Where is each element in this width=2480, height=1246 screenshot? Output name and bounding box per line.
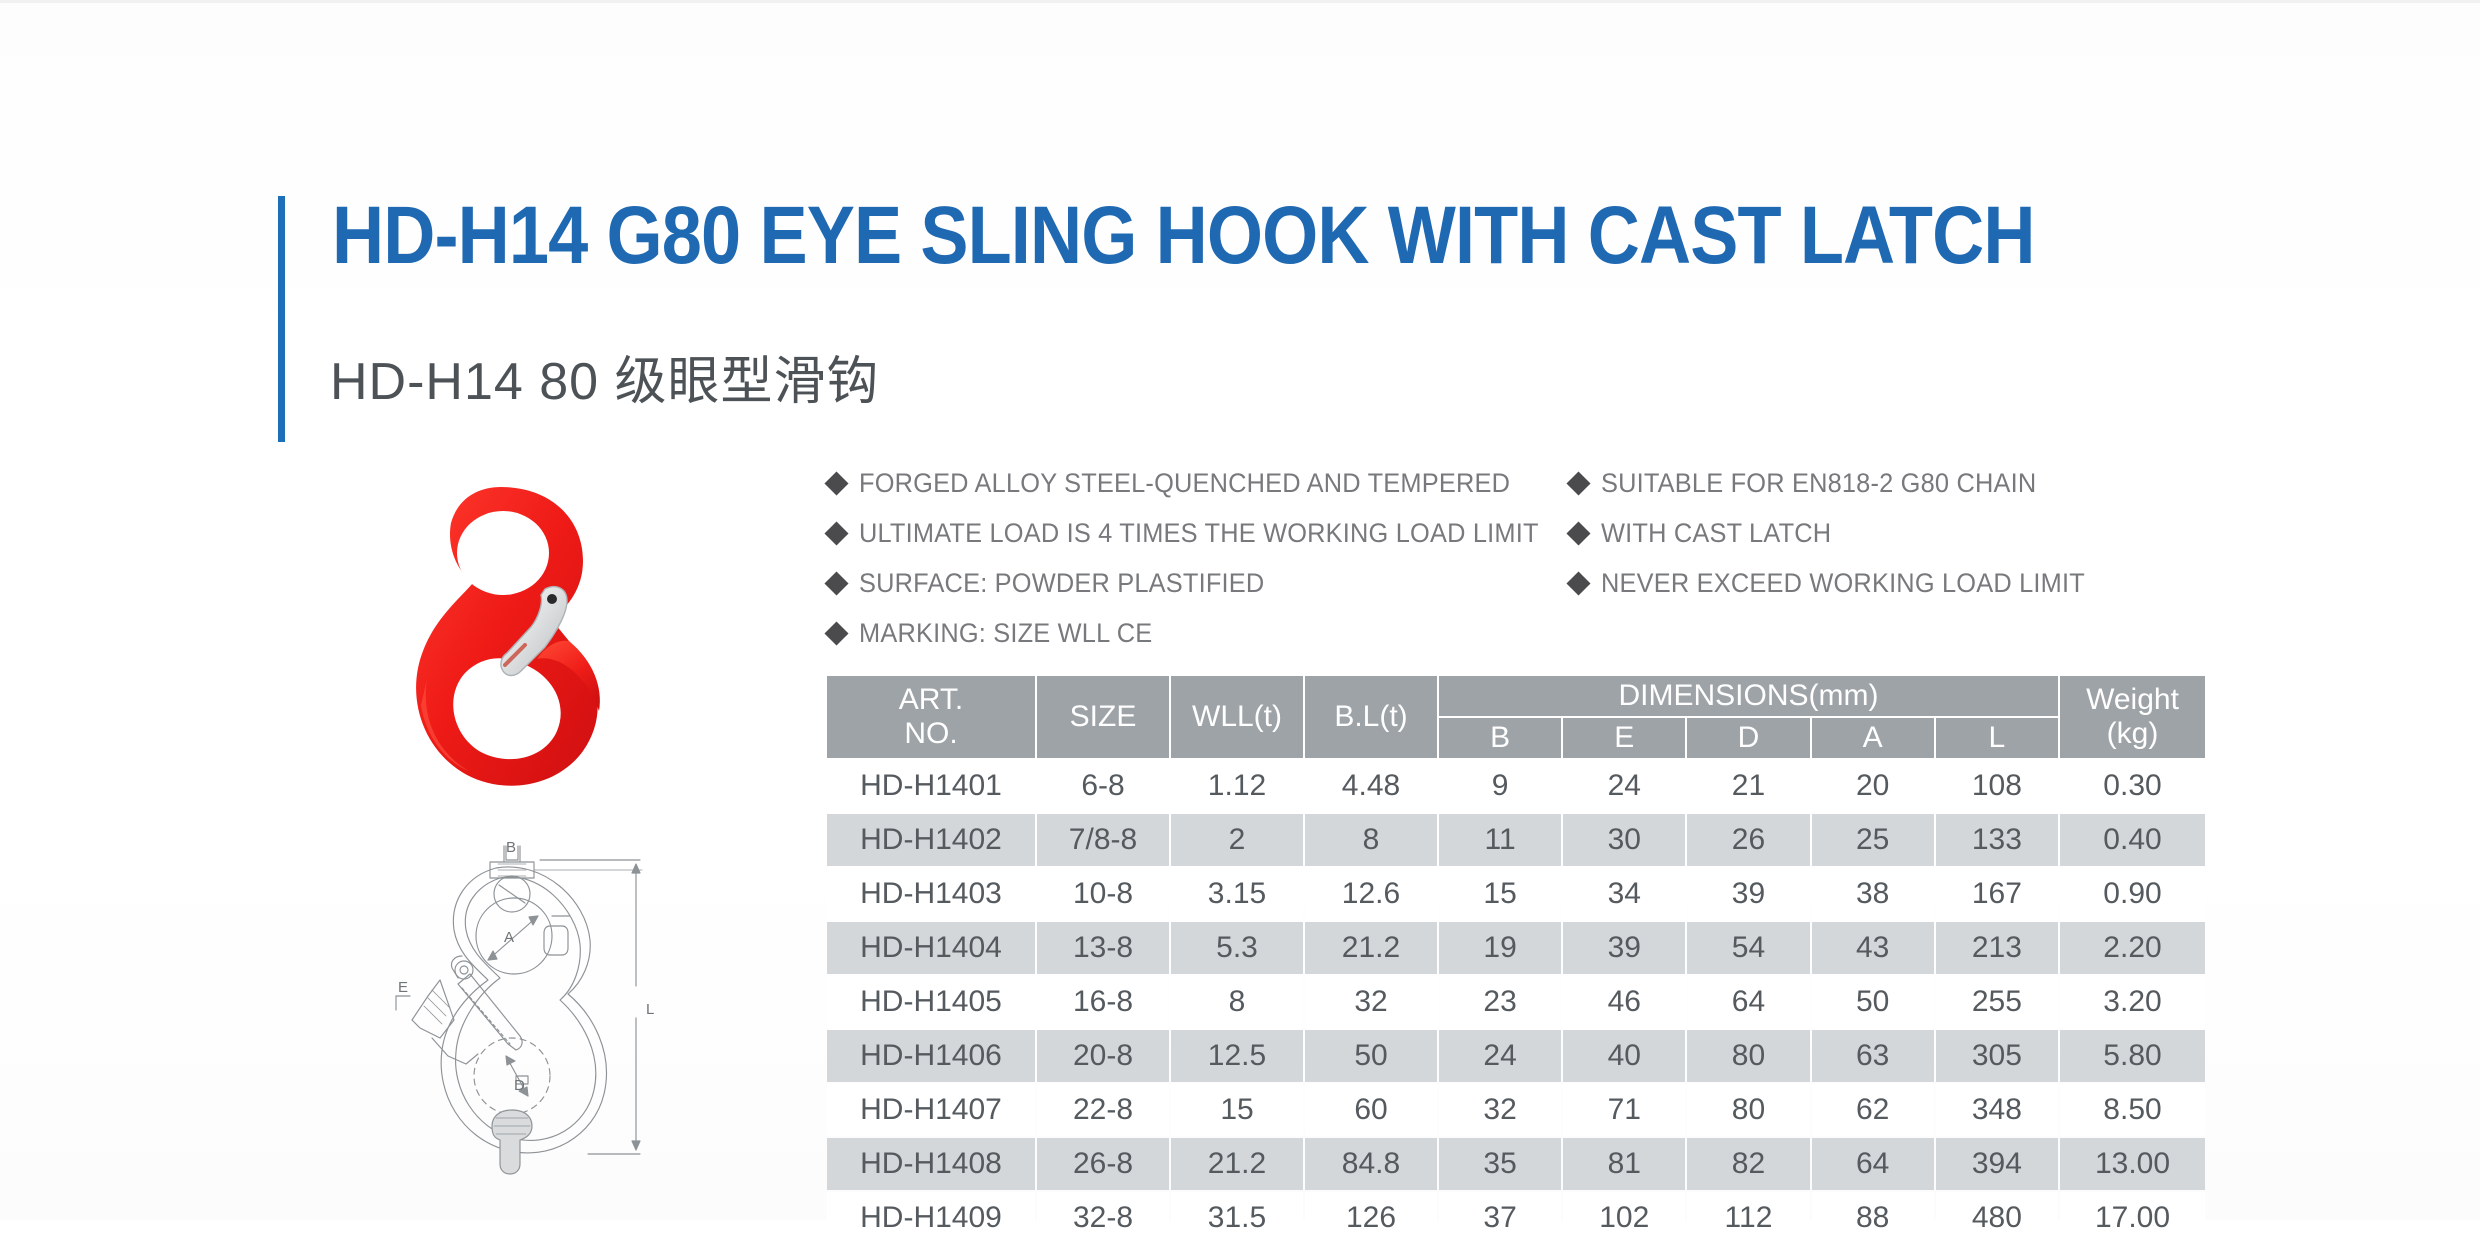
feature-item: SURFACE: POWDER PLASTIFIED xyxy=(828,558,1568,608)
cell-dim-a: 62 xyxy=(1812,1084,1934,1136)
cell-dim-b: 37 xyxy=(1439,1192,1561,1244)
cell-wll: 15 xyxy=(1171,1084,1303,1136)
cell-dim-e: 30 xyxy=(1563,814,1685,866)
cell-size: 32-8 xyxy=(1037,1192,1169,1244)
cell-dim-l: 108 xyxy=(1936,760,2058,812)
cell-bl: 4.48 xyxy=(1305,760,1437,812)
cell-size: 10-8 xyxy=(1037,868,1169,920)
table-row: HD-H140932-831.5126371021128848017.00 xyxy=(827,1192,2205,1244)
feature-text: NEVER EXCEED WORKING LOAD LIMIT xyxy=(1601,568,2085,598)
cell-bl: 12.6 xyxy=(1305,868,1437,920)
hook-dimension-diagram: B A E D L xyxy=(392,838,672,1183)
cell-dim-l: 394 xyxy=(1936,1138,2058,1190)
diamond-bullet-icon xyxy=(1566,571,1590,595)
cell-dim-e: 40 xyxy=(1563,1030,1685,1082)
dimension-label-B: B xyxy=(506,839,516,856)
table-row: HD-H14027/8-828113026251330.40 xyxy=(827,814,2205,866)
cell-bl: 50 xyxy=(1305,1030,1437,1082)
cell-dim-d: 54 xyxy=(1687,922,1809,974)
column-header-dim-b: B xyxy=(1439,718,1561,758)
cell-dim-e: 34 xyxy=(1563,868,1685,920)
cell-bl: 21.2 xyxy=(1305,922,1437,974)
cell-dim-a: 50 xyxy=(1812,976,1934,1028)
cell-dim-e: 102 xyxy=(1563,1192,1685,1244)
cell-weight: 2.20 xyxy=(2060,922,2205,974)
column-header-art-no: ART. NO. xyxy=(827,676,1035,758)
table-row: HD-H140413-85.321.2193954432132.20 xyxy=(827,922,2205,974)
cell-art-no: HD-H1402 xyxy=(827,814,1035,866)
diamond-bullet-icon xyxy=(1566,521,1590,545)
cell-dim-e: 71 xyxy=(1563,1084,1685,1136)
product-datasheet-page: HD-H14 G80 EYE SLING HOOK WITH CAST LATC… xyxy=(0,0,2480,1220)
cell-dim-d: 26 xyxy=(1687,814,1809,866)
column-header-dim-e: E xyxy=(1563,718,1685,758)
diamond-bullet-icon xyxy=(824,521,848,545)
cell-dim-l: 480 xyxy=(1936,1192,2058,1244)
table-header: ART. NO. SIZE WLL(t) B.L(t) DIMENSIONS(m… xyxy=(827,676,2205,758)
feature-item: FORGED ALLOY STEEL-QUENCHED AND TEMPERED xyxy=(828,458,1568,508)
cell-wll: 5.3 xyxy=(1171,922,1303,974)
cell-dim-a: 63 xyxy=(1812,1030,1934,1082)
latch-pivot-pin xyxy=(547,594,557,604)
diamond-bullet-icon xyxy=(824,471,848,495)
cell-dim-a: 43 xyxy=(1812,922,1934,974)
cell-dim-e: 81 xyxy=(1563,1138,1685,1190)
cell-dim-e: 39 xyxy=(1563,922,1685,974)
table-row: HD-H140826-821.284.83581826439413.00 xyxy=(827,1138,2205,1190)
table-row: HD-H140310-83.1512.6153439381670.90 xyxy=(827,868,2205,920)
cell-dim-b: 35 xyxy=(1439,1138,1561,1190)
cell-wll: 31.5 xyxy=(1171,1192,1303,1244)
cell-size: 20-8 xyxy=(1037,1030,1169,1082)
feature-list: FORGED ALLOY STEEL-QUENCHED AND TEMPERED… xyxy=(828,458,2208,658)
dimension-labels: B A E D L xyxy=(398,839,654,1094)
cell-dim-b: 32 xyxy=(1439,1084,1561,1136)
cell-wll: 1.12 xyxy=(1171,760,1303,812)
cell-art-no: HD-H1406 xyxy=(827,1030,1035,1082)
feature-column-left: FORGED ALLOY STEEL-QUENCHED AND TEMPERED… xyxy=(828,458,1568,658)
column-header-wll: WLL(t) xyxy=(1171,676,1303,758)
cell-size: 6-8 xyxy=(1037,760,1169,812)
table-row: HD-H140516-8832234664502553.20 xyxy=(827,976,2205,1028)
feature-text: SUITABLE FOR EN818-2 G80 CHAIN xyxy=(1601,468,2036,498)
cell-weight: 3.20 xyxy=(2060,976,2205,1028)
cell-dim-e: 24 xyxy=(1563,760,1685,812)
column-header-dimensions-group: DIMENSIONS(mm) xyxy=(1439,676,2058,716)
feature-text: WITH CAST LATCH xyxy=(1601,518,1831,548)
feature-text: FORGED ALLOY STEEL-QUENCHED AND TEMPERED xyxy=(859,468,1510,498)
cell-dim-l: 348 xyxy=(1936,1084,2058,1136)
cell-weight: 8.50 xyxy=(2060,1084,2205,1136)
column-header-bl: B.L(t) xyxy=(1305,676,1437,758)
cell-dim-b: 23 xyxy=(1439,976,1561,1028)
dimension-label-E: E xyxy=(398,979,408,996)
cell-bl: 84.8 xyxy=(1305,1138,1437,1190)
cell-dim-a: 25 xyxy=(1812,814,1934,866)
cell-dim-a: 88 xyxy=(1812,1192,1934,1244)
cell-art-no: HD-H1403 xyxy=(827,868,1035,920)
cell-weight: 5.80 xyxy=(2060,1030,2205,1082)
cell-dim-b: 15 xyxy=(1439,868,1561,920)
feature-item: NEVER EXCEED WORKING LOAD LIMIT xyxy=(1570,558,2210,608)
page-subtitle: HD-H14 80 级眼型滑钩 xyxy=(330,352,880,412)
cell-dim-a: 64 xyxy=(1812,1138,1934,1190)
cell-wll: 21.2 xyxy=(1171,1138,1303,1190)
cell-weight: 13.00 xyxy=(2060,1138,2205,1190)
cell-dim-b: 24 xyxy=(1439,1030,1561,1082)
cell-weight: 0.30 xyxy=(2060,760,2205,812)
cell-wll: 8 xyxy=(1171,976,1303,1028)
page-title: HD-H14 G80 EYE SLING HOOK WITH CAST LATC… xyxy=(332,190,2004,282)
cell-art-no: HD-H1409 xyxy=(827,1192,1035,1244)
table-row: HD-H14016-81.124.4892421201080.30 xyxy=(827,760,2205,812)
specification-table: ART. NO. SIZE WLL(t) B.L(t) DIMENSIONS(m… xyxy=(825,674,2207,1246)
cell-dim-b: 19 xyxy=(1439,922,1561,974)
cell-wll: 2 xyxy=(1171,814,1303,866)
cell-dim-e: 46 xyxy=(1563,976,1685,1028)
cell-dim-l: 133 xyxy=(1936,814,2058,866)
feature-item: ULTIMATE LOAD IS 4 TIMES THE WORKING LOA… xyxy=(828,508,1568,558)
cell-wll: 12.5 xyxy=(1171,1030,1303,1082)
table-header-row-1: ART. NO. SIZE WLL(t) B.L(t) DIMENSIONS(m… xyxy=(827,676,2205,716)
cell-size: 22-8 xyxy=(1037,1084,1169,1136)
dimension-label-A: A xyxy=(504,929,514,946)
cell-dim-d: 80 xyxy=(1687,1030,1809,1082)
column-header-weight: Weight (kg) xyxy=(2060,676,2205,758)
cell-dim-d: 112 xyxy=(1687,1192,1809,1244)
column-header-dim-a: A xyxy=(1812,718,1934,758)
feature-item: MARKING: SIZE WLL CE xyxy=(828,608,1568,658)
cell-dim-d: 64 xyxy=(1687,976,1809,1028)
cell-dim-l: 213 xyxy=(1936,922,2058,974)
diamond-bullet-icon xyxy=(824,571,848,595)
dimension-label-L: L xyxy=(646,1001,654,1018)
technical-drawing: B A E D L xyxy=(392,838,672,1183)
cell-bl: 8 xyxy=(1305,814,1437,866)
cell-dim-d: 39 xyxy=(1687,868,1809,920)
cell-size: 7/8-8 xyxy=(1037,814,1169,866)
feature-item: WITH CAST LATCH xyxy=(1570,508,2210,558)
cell-bl: 32 xyxy=(1305,976,1437,1028)
cell-dim-d: 21 xyxy=(1687,760,1809,812)
cell-bl: 126 xyxy=(1305,1192,1437,1244)
cell-dim-l: 305 xyxy=(1936,1030,2058,1082)
cell-art-no: HD-H1405 xyxy=(827,976,1035,1028)
table-body: HD-H14016-81.124.4892421201080.30HD-H140… xyxy=(827,760,2205,1244)
column-header-dim-d: D xyxy=(1687,718,1809,758)
cell-dim-b: 9 xyxy=(1439,760,1561,812)
cell-dim-b: 11 xyxy=(1439,814,1561,866)
cell-dim-l: 167 xyxy=(1936,868,2058,920)
red-hook-illustration xyxy=(355,465,685,805)
feature-column-right: SUITABLE FOR EN818-2 G80 CHAIN WITH CAST… xyxy=(1570,458,2210,608)
table-row: HD-H140722-81560327180623488.50 xyxy=(827,1084,2205,1136)
cell-art-no: HD-H1401 xyxy=(827,760,1035,812)
cell-weight: 0.90 xyxy=(2060,868,2205,920)
table-row: HD-H140620-812.550244080633055.80 xyxy=(827,1030,2205,1082)
cell-weight: 0.40 xyxy=(2060,814,2205,866)
cell-size: 26-8 xyxy=(1037,1138,1169,1190)
cell-dim-a: 38 xyxy=(1812,868,1934,920)
cell-dim-d: 82 xyxy=(1687,1138,1809,1190)
diamond-bullet-icon xyxy=(824,621,848,645)
diamond-bullet-icon xyxy=(1566,471,1590,495)
cell-dim-l: 255 xyxy=(1936,976,2058,1028)
cell-art-no: HD-H1407 xyxy=(827,1084,1035,1136)
cell-art-no: HD-H1404 xyxy=(827,922,1035,974)
feature-item: SUITABLE FOR EN818-2 G80 CHAIN xyxy=(1570,458,2210,508)
cell-weight: 17.00 xyxy=(2060,1192,2205,1244)
cell-dim-d: 80 xyxy=(1687,1084,1809,1136)
column-header-dim-l: L xyxy=(1936,718,2058,758)
column-header-size: SIZE xyxy=(1037,676,1169,758)
cell-dim-a: 20 xyxy=(1812,760,1934,812)
dimension-label-D: D xyxy=(514,1077,525,1094)
feature-text: MARKING: SIZE WLL CE xyxy=(859,618,1152,648)
feature-text: SURFACE: POWDER PLASTIFIED xyxy=(859,568,1264,598)
cell-bl: 60 xyxy=(1305,1084,1437,1136)
feature-text: ULTIMATE LOAD IS 4 TIMES THE WORKING LOA… xyxy=(859,518,1539,548)
cell-size: 13-8 xyxy=(1037,922,1169,974)
cell-art-no: HD-H1408 xyxy=(827,1138,1035,1190)
title-accent-bar xyxy=(278,196,285,442)
product-photo xyxy=(355,465,685,805)
cell-size: 16-8 xyxy=(1037,976,1169,1028)
cell-wll: 3.15 xyxy=(1171,868,1303,920)
